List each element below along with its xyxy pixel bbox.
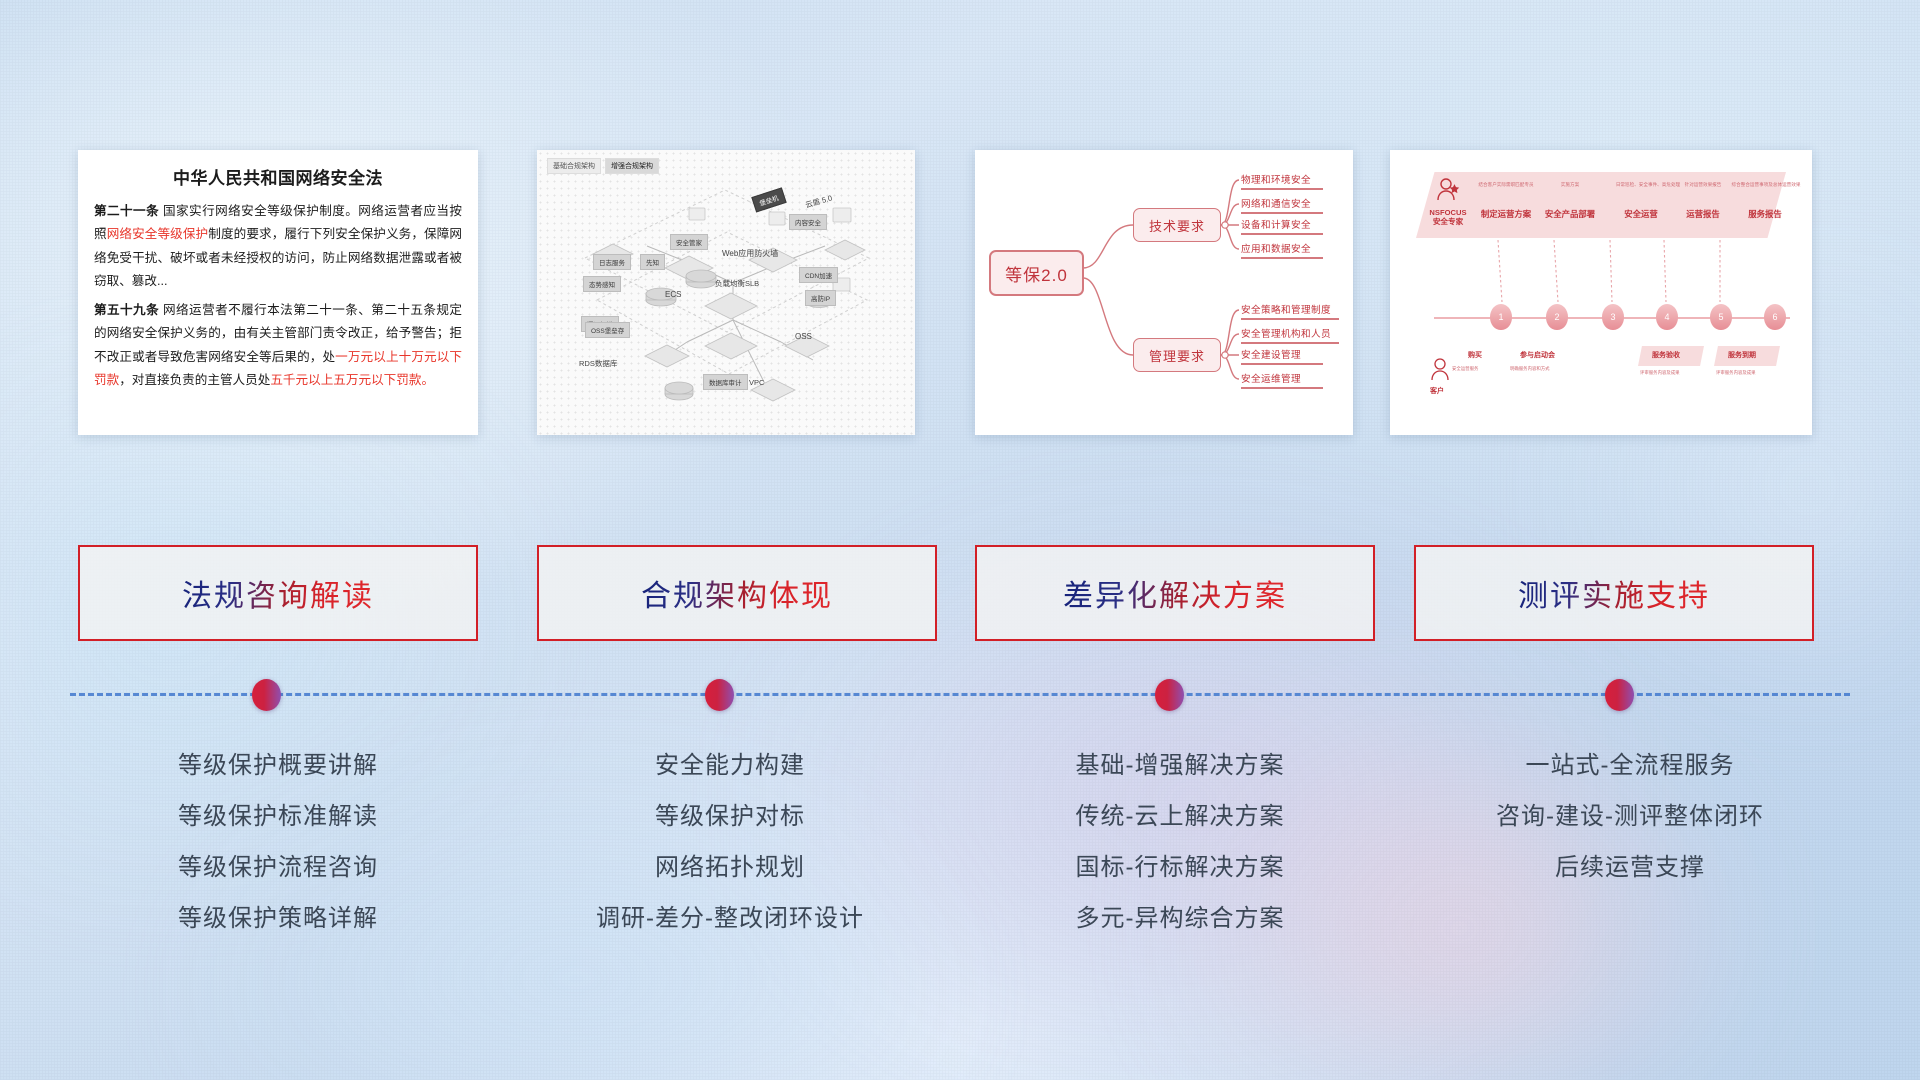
nsfocus-step-title: 安全运营 <box>1606 208 1676 220</box>
list-item: 咨询-建设-测评整体闭环 <box>1400 791 1860 842</box>
nsfocus-step-marker: 3 <box>1602 304 1624 330</box>
section-items-3: 基础-增强解决方案 传统-云上解决方案 国标-行标解决方案 多元-异构综合方案 <box>950 740 1410 944</box>
nsfocus-step-sub: 综合整合运营事项及总体运营效果 <box>1720 182 1812 188</box>
arch-node-oss: OSS <box>795 332 812 341</box>
nsfocus-footer-title: 服务验收 <box>1652 350 1680 360</box>
mindmap-leaf: 设备和计算安全 <box>1241 217 1311 233</box>
mindmap-leaf: 安全运维管理 <box>1241 371 1301 387</box>
list-item: 等级保护流程咨询 <box>48 842 508 893</box>
section-title-box-1[interactable]: 法规咨询解读 <box>78 545 478 641</box>
nsfocus-step-marker: 6 <box>1764 304 1786 330</box>
nsfocus-step-marker: 4 <box>1656 304 1678 330</box>
section-title-box-2[interactable]: 合规架构体现 <box>537 545 937 641</box>
section-title-label: 差异化解决方案 <box>1063 571 1287 615</box>
nsfocus-footer-sub: 评审服务内容及成果 <box>1640 370 1680 376</box>
list-item: 等级保护概要讲解 <box>48 740 508 791</box>
card-cybersecurity-law[interactable]: 中华人民共和国网络安全法 第二十一条 国家实行网络安全等级保护制度。网络运营者应… <box>78 150 478 435</box>
arch-node-content-safety: 内容安全 <box>789 214 827 230</box>
mindmap-leaf: 安全管理机构和人员 <box>1241 326 1331 342</box>
arch-node-ecs: ECS <box>665 290 681 299</box>
nsfocus-customer-label: 客户 <box>1430 386 1444 396</box>
list-item: 网络拓扑规划 <box>500 842 960 893</box>
mindmap-branch-technical[interactable]: 技术要求 <box>1133 208 1221 242</box>
arch-node-log-service: 日志服务 <box>593 254 631 270</box>
timeline-dot-2[interactable] <box>705 679 734 711</box>
nsfocus-footer-sub: 评审服务内容及成果 <box>1716 370 1756 376</box>
nsfocus-step-marker: 1 <box>1490 304 1512 330</box>
mindmap-leaf-underline <box>1241 233 1323 235</box>
mindmap-branch-management[interactable]: 管理要求 <box>1133 338 1221 372</box>
nsfocus-brand-sub: 安全专家 <box>1433 217 1463 226</box>
list-item: 多元-异构综合方案 <box>950 893 1410 944</box>
law-title: 中华人民共和国网络安全法 <box>94 164 462 189</box>
list-item: 一站式-全流程服务 <box>1400 740 1860 791</box>
nsfocus-step-sub: 实施方案 <box>1540 182 1600 188</box>
mindmap-leaf: 安全策略和管理制度 <box>1241 302 1331 318</box>
arch-node-xianzhi: 先知 <box>640 254 665 270</box>
list-item: 传统-云上解决方案 <box>950 791 1410 842</box>
nsfocus-person-icon-group <box>1390 150 1812 435</box>
nsfocus-step-title: 运营报告 <box>1668 208 1738 220</box>
mindmap-leaf-underline <box>1241 212 1323 214</box>
nsfocus-footer-sub: 明确服务内容和方式 <box>1510 366 1550 372</box>
nsfocus-footer-title: 购买 <box>1468 350 1482 360</box>
card-nsfocus-service-timeline[interactable]: NSFOCUS 安全专家 结合客户实际需职匹配专员 制定运营方案 实施方案 安全… <box>1390 150 1812 435</box>
nsfocus-footer-title: 参与启动会 <box>1520 350 1555 360</box>
mindmap-leaf-underline <box>1241 257 1323 259</box>
section-title-label: 法规咨询解读 <box>182 571 374 615</box>
law-article-number: 第二十一条 <box>94 204 159 218</box>
timeline-dot-3[interactable] <box>1155 679 1184 711</box>
list-item: 等级保护策略详解 <box>48 893 508 944</box>
law-article-number: 第五十九条 <box>94 303 159 317</box>
arch-node-rds: RDS数据库 <box>579 358 617 369</box>
list-item: 等级保护对标 <box>500 791 960 842</box>
section-items-1: 等级保护概要讲解 等级保护标准解读 等级保护流程咨询 等级保护策略详解 <box>48 740 508 944</box>
arch-node-situational-awareness: 态势感知 <box>583 276 621 292</box>
mindmap-root-node[interactable]: 等保2.0 <box>989 250 1084 296</box>
mindmap-leaf-underline <box>1241 318 1339 320</box>
mindmap-leaf-underline <box>1241 363 1323 365</box>
arch-node-cdn: CDN加速 <box>799 267 838 283</box>
section-title-box-3[interactable]: 差异化解决方案 <box>975 545 1375 641</box>
section-items-2: 安全能力构建 等级保护对标 网络拓扑规划 调研-差分-整改闭环设计 <box>500 740 960 944</box>
nsfocus-brand-name: NSFOCUS <box>1429 208 1466 217</box>
list-item: 安全能力构建 <box>500 740 960 791</box>
card-dengbao-mindmap[interactable]: 等保2.0 技术要求 管理要求 物理和环境安全 网络和通信安全 设备和计算安全 … <box>975 150 1353 435</box>
preview-cards-row: 中华人民共和国网络安全法 第二十一条 国家实行网络安全等级保护制度。网络运营者应… <box>0 150 1920 450</box>
nsfocus-footer-title: 服务到期 <box>1728 350 1756 360</box>
list-item: 国标-行标解决方案 <box>950 842 1410 893</box>
section-titles-row: 法规咨询解读 合规架构体现 差异化解决方案 测评实施支持 <box>0 545 1920 645</box>
list-item: 调研-差分-整改闭环设计 <box>500 893 960 944</box>
mindmap-leaf: 安全建设管理 <box>1241 347 1301 363</box>
section-title-label: 合规架构体现 <box>641 571 833 615</box>
law-paragraph-21: 第二十一条 国家实行网络安全等级保护制度。网络运营者应当按照网络安全等级保护制度… <box>94 200 462 293</box>
nsfocus-step-title: 服务报告 <box>1730 208 1800 220</box>
mindmap-leaf: 物理和环境安全 <box>1241 172 1311 188</box>
timeline-dot-4[interactable] <box>1605 679 1634 711</box>
law-run-text: ，对直接负责的主管人员处 <box>119 373 270 387</box>
law-paragraph-59: 第五十九条 网络运营者不履行本法第二十一条、第二十五条规定的网络安全保护义务的，… <box>94 299 462 392</box>
nsfocus-step-marker: 5 <box>1710 304 1732 330</box>
law-run-highlight: 网络安全等级保护 <box>107 227 209 241</box>
arch-node-security-butler: 安全管家 <box>670 234 708 250</box>
arch-node-anti-ddos: 高防IP <box>805 290 836 306</box>
section-items-4: 一站式-全流程服务 咨询-建设-测评整体闭环 后续运营支撑 <box>1400 740 1860 893</box>
architecture-shapes <box>537 150 915 435</box>
card-compliance-architecture[interactable]: 基础合规架构 增强合规架构 <box>537 150 915 435</box>
mindmap-leaf-underline <box>1241 342 1339 344</box>
law-run-highlight: 五千元以上五万元以下罚款。 <box>270 373 434 387</box>
arch-node-oss-vault: OSS堡垒存 <box>585 322 630 338</box>
section-title-label: 测评实施支持 <box>1518 571 1710 615</box>
timeline <box>0 660 1920 720</box>
arch-node-slb: 负载均衡SLB <box>715 278 759 289</box>
section-items-row: 等级保护概要讲解 等级保护标准解读 等级保护流程咨询 等级保护策略详解 安全能力… <box>0 740 1920 980</box>
section-title-box-4[interactable]: 测评实施支持 <box>1414 545 1814 641</box>
mindmap-leaf: 网络和通信安全 <box>1241 196 1311 212</box>
timeline-dashed-line <box>70 693 1850 696</box>
list-item: 基础-增强解决方案 <box>950 740 1410 791</box>
mindmap-leaf: 应用和数据安全 <box>1241 241 1311 257</box>
timeline-dot-1[interactable] <box>252 679 281 711</box>
mindmap-leaf-underline <box>1241 188 1323 190</box>
arch-node-db-audit: 数据库审计 <box>703 374 748 390</box>
list-item: 等级保护标准解读 <box>48 791 508 842</box>
nsfocus-step-title: 安全产品部署 <box>1530 208 1610 220</box>
arch-node-waf: Web应用防火墙 <box>722 248 778 259</box>
arch-node-vpc: VPC <box>749 378 764 387</box>
nsfocus-step-sub: 结合客户实际需职匹配专员 <box>1464 182 1548 188</box>
nsfocus-footer-sub: 安全运营服务 <box>1452 366 1478 372</box>
list-item: 后续运营支撑 <box>1400 842 1860 893</box>
mindmap-leaf-underline <box>1241 387 1323 389</box>
nsfocus-step-marker: 2 <box>1546 304 1568 330</box>
